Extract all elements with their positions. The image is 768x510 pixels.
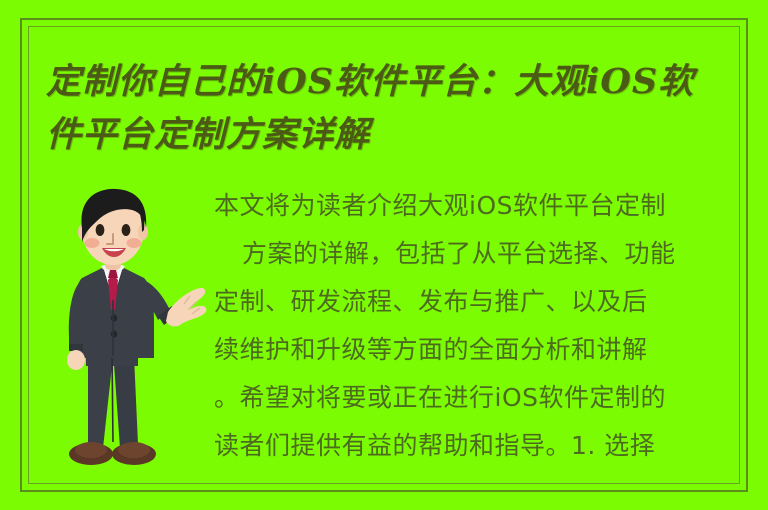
jacket-button-top xyxy=(111,314,117,321)
left-trouser-leg xyxy=(88,356,112,448)
trouser-crease xyxy=(112,354,113,442)
left-hand xyxy=(67,350,85,370)
right-hand-open-palm xyxy=(166,288,206,327)
businessman-illustration xyxy=(58,186,208,480)
right-trouser-leg xyxy=(114,356,138,448)
left-eye xyxy=(96,224,105,236)
right-blush xyxy=(127,238,142,248)
body-line-6: 读者们提供有益的帮助和指导。1. 选择 xyxy=(214,422,742,470)
body-line-4: 续维护和升级等方面的全面分析和讲解 xyxy=(214,326,742,374)
poster-title: 定制你自己的iOS软件平台：大观iOS软 件平台定制方案详解 xyxy=(46,55,726,161)
body-line-2: 方案的详解，包括了从平台选择、功能 xyxy=(214,230,742,278)
jacket-button-bottom xyxy=(111,330,117,337)
poster-body-text: 本文将为读者介绍大观iOS软件平台定制 方案的详解，包括了从平台选择、功能 定制… xyxy=(214,182,742,470)
title-line-1: 定制你自己的iOS软件平台：大观iOS软 xyxy=(46,55,726,108)
body-line-3: 定制、研发流程、发布与推广、以及后 xyxy=(214,278,742,326)
left-shoe-top xyxy=(75,442,107,458)
right-eye xyxy=(122,224,131,236)
title-line-2: 件平台定制方案详解 xyxy=(46,108,726,161)
body-line-1: 本文将为读者介绍大观iOS软件平台定制 xyxy=(214,182,742,230)
body-line-5: 。希望对将要或正在进行iOS软件定制的 xyxy=(214,374,742,422)
left-cuff xyxy=(69,344,83,351)
poster-canvas: 定制你自己的iOS软件平台：大观iOS软 件平台定制方案详解 xyxy=(0,0,768,510)
left-blush xyxy=(85,238,100,248)
left-sleeve xyxy=(69,282,84,350)
right-shoe-top xyxy=(118,442,150,458)
